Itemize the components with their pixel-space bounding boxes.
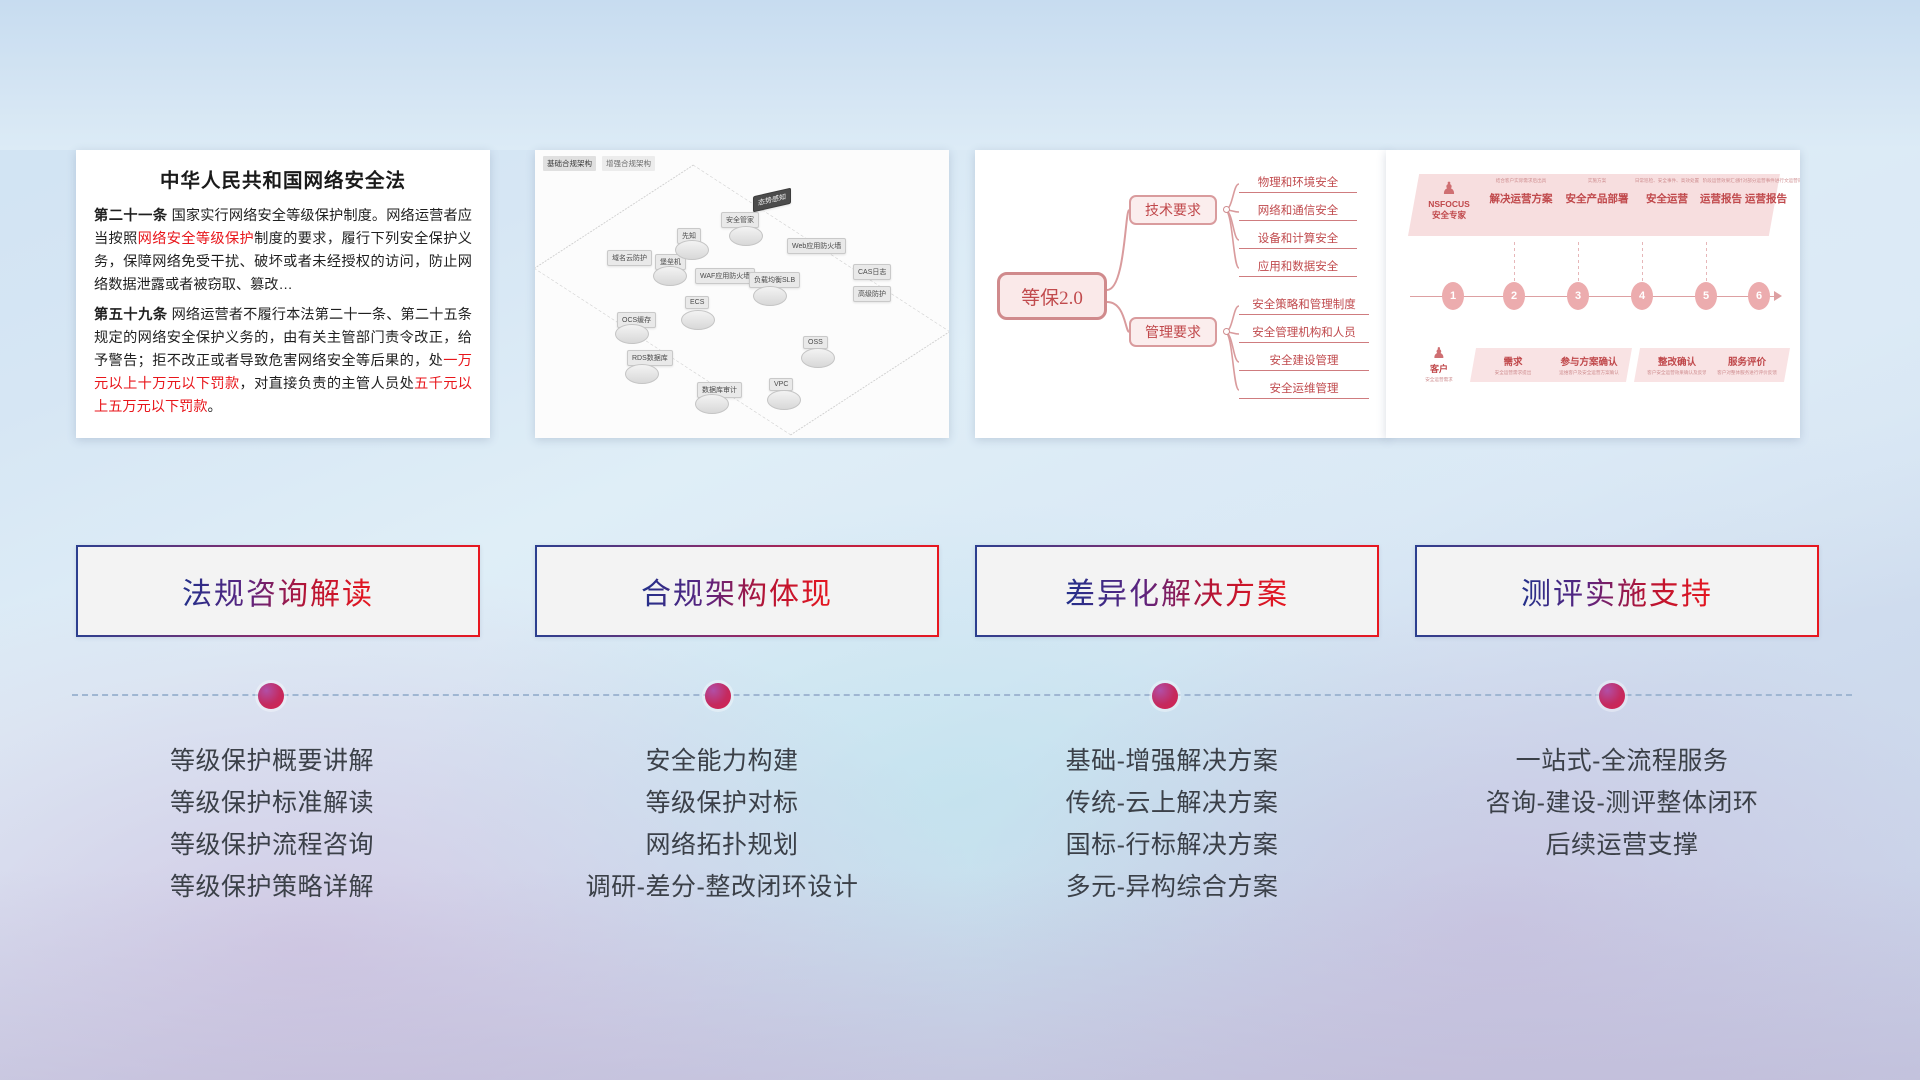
list-item: 一站式-全流程服务: [1412, 740, 1832, 782]
nsfocus-step-3: 日常巡检、安全事件、高效处置 安全运营: [1634, 178, 1700, 206]
nsfocus-lower-title-1: 需求: [1470, 354, 1556, 368]
tab-basic-architecture[interactable]: 基础合规架构: [543, 156, 596, 171]
mindmap-leaf-app-data: 应用和数据安全: [1239, 258, 1357, 277]
arch-puck-ocs: [615, 324, 649, 344]
heading-border-left: [1415, 545, 1417, 637]
mindmap-collapse-dot-technical[interactable]: [1223, 206, 1230, 213]
heading-border-bottom: [76, 635, 480, 637]
heading-box-differentiated-solution[interactable]: 差异化解决方案: [975, 545, 1379, 637]
arch-puck-steward: [729, 226, 763, 246]
heading-border-left: [535, 545, 537, 637]
nsfocus-step-2-sub: 实施方案: [1562, 178, 1632, 184]
law-card-body: 中华人民共和国网络安全法 第二十一条 国家实行网络安全等级保护制度。网络运营者应…: [76, 150, 490, 434]
nsfocus-step-2: 实施方案 安全产品部署: [1562, 178, 1632, 206]
nsfocus-timeline-axis: [1410, 296, 1776, 297]
mindmap-leaf-device-compute: 设备和计算安全: [1239, 230, 1357, 249]
heading-border-left: [76, 545, 78, 637]
law-article-21: 第二十一条 国家实行网络安全等级保护制度。网络运营者应当按照网络安全等级保护制度…: [94, 205, 472, 297]
list-item: 咨询-建设-测评整体闭环: [1412, 782, 1832, 824]
reference-card-row: 中华人民共和国网络安全法 第二十一条 国家实行网络安全等级保护制度。网络运营者应…: [0, 150, 1920, 442]
law-article-59-label: 第五十九条: [94, 307, 168, 323]
mindmap-collapse-dot-management[interactable]: [1223, 328, 1230, 335]
customer-icon: ♟: [1414, 346, 1464, 361]
nsfocus-step-2-title: 安全产品部署: [1562, 191, 1632, 206]
nsfocus-customer-sub: 安全运营需求: [1414, 377, 1464, 383]
list-item: 传统-云上解决方案: [962, 782, 1382, 824]
security-expert-icon: ♟: [1420, 180, 1478, 197]
nsfocus-reference-card[interactable]: ♟ NSFOCUS 安全专家 结合客户实际需求后出具 解决运营方案 实施方案 安…: [1386, 150, 1800, 438]
nsfocus-tick-3: [1642, 242, 1643, 284]
timeline-dashed-line: [72, 694, 1852, 698]
heading-box-compliance-architecture[interactable]: 合规架构体现: [535, 545, 939, 637]
nsfocus-number-1: 1: [1442, 282, 1464, 310]
list-item: 等级保护标准解读: [62, 782, 482, 824]
heading-border-right: [937, 545, 939, 637]
list-item: 等级保护概要讲解: [62, 740, 482, 782]
law-article-59-text-b: ，对直接负责的主管人员处: [240, 376, 415, 392]
heading-box-assessment-support[interactable]: 测评实施支持: [1415, 545, 1819, 637]
nsfocus-number-5: 5: [1695, 282, 1717, 310]
nsfocus-step-3-title: 安全运营: [1634, 191, 1700, 206]
heading-border-bottom: [975, 635, 1379, 637]
heading-border-right: [478, 545, 480, 637]
list-item: 网络拓扑规划: [512, 824, 932, 866]
nsfocus-step-1-sub: 结合客户实际需求后出具: [1482, 178, 1560, 184]
nsfocus-step-1-title: 解决运营方案: [1482, 191, 1560, 206]
list-item: 基础-增强解决方案: [962, 740, 1382, 782]
arch-node-cas-log: CAS日志: [853, 264, 891, 280]
nsfocus-step-1: 结合客户实际需求后出具 解决运营方案: [1482, 178, 1560, 206]
nsfocus-number-4: 4: [1631, 282, 1653, 310]
nsfocus-timeline-arrow-icon: [1774, 291, 1782, 301]
arch-node-situational-awareness: 态势感知: [753, 188, 791, 213]
mindmap-root-node[interactable]: 等保2.0: [997, 272, 1107, 320]
nsfocus-brand-block: ♟ NSFOCUS 安全专家: [1420, 180, 1478, 221]
timeline-dot-4[interactable]: [1599, 683, 1625, 709]
nsfocus-brand-line2: 安全专家: [1420, 209, 1478, 221]
law-article-59: 第五十九条 网络运营者不履行本法第二十一条、第二十五条规定的网络安全保护义务的，…: [94, 304, 472, 419]
nsfocus-step-5: 针对部分运营事件进行文运营效果 运营报告: [1738, 178, 1794, 206]
arch-node-advanced-protection: 高级防护: [853, 286, 891, 302]
timeline-dot-1[interactable]: [258, 683, 284, 709]
arch-node-ecs: ECS: [685, 296, 709, 309]
heading-border-right: [1817, 545, 1819, 637]
architecture-tab-bar[interactable]: 基础合规架构 增强合规架构: [543, 156, 655, 171]
mindmap-leaf-org-personnel: 安全管理机构和人员: [1239, 324, 1369, 343]
list-item: 等级保护流程咨询: [62, 824, 482, 866]
nsfocus-number-2: 2: [1503, 282, 1525, 310]
heading-border-bottom: [535, 635, 939, 637]
timeline-dot-2[interactable]: [705, 683, 731, 709]
nsfocus-number-3: 3: [1567, 282, 1589, 310]
top-background-wash: [0, 0, 1920, 150]
arch-puck-ecs: [681, 310, 715, 330]
mindmap-reference-card[interactable]: 等保2.0 技术要求 物理和环境安全 网络和通信安全 设备和计算安全 应用和数据…: [975, 150, 1389, 438]
mindmap-leaf-policy-system: 安全策略和管理制度: [1239, 296, 1369, 315]
nsfocus-customer-block: ♟ 客户 安全运营需求: [1414, 346, 1464, 383]
arch-puck-db-audit: [695, 394, 729, 414]
nsfocus-step-5-title: 运营报告: [1738, 191, 1794, 206]
heading-border-top: [535, 545, 939, 547]
nsfocus-step-3-sub: 日常巡检、安全事件、高效处置: [1634, 178, 1700, 184]
heading-border-top: [76, 545, 480, 547]
timeline-dot-3[interactable]: [1152, 683, 1178, 709]
list-item: 调研-差分-整改闭环设计: [512, 866, 932, 908]
architecture-reference-card[interactable]: 基础合规架构 增强合规架构 态势感知 先知 安全管家 域名云防护 堡垒机 WAF…: [535, 150, 949, 438]
nsfocus-step-5-sub: 针对部分运营事件进行文运营效果: [1738, 178, 1794, 184]
nsfocus-number-6: 6: [1748, 282, 1770, 310]
arch-puck-vpc: [767, 390, 801, 410]
arch-node-waf: WAF应用防火墙: [695, 268, 755, 284]
mindmap-leaf-construction-mgmt: 安全建设管理: [1239, 352, 1369, 371]
nsfocus-brand-line1: NSFOCUS: [1420, 199, 1478, 209]
heading-border-top: [975, 545, 1379, 547]
arch-node-web-firewall: Web应用防火墙: [787, 238, 846, 254]
arch-node-vpc: VPC: [769, 378, 793, 391]
heading-label-2: 合规架构体现: [641, 569, 833, 613]
arch-puck-rds: [625, 364, 659, 384]
mindmap-leaf-ops-mgmt: 安全运维管理: [1239, 380, 1369, 399]
heading-label-4: 测评实施支持: [1521, 569, 1713, 613]
list-item: 等级保护策略详解: [62, 866, 482, 908]
detail-column-4: 一站式-全流程服务 咨询-建设-测评整体闭环 后续运营支撑: [1412, 740, 1832, 866]
arch-puck-foresight: [675, 240, 709, 260]
dengbao-mindmap: 等保2.0 技术要求 物理和环境安全 网络和通信安全 设备和计算安全 应用和数据…: [975, 150, 1389, 438]
detail-column-3: 基础-增强解决方案 传统-云上解决方案 国标-行标解决方案 多元-异构综合方案: [962, 740, 1382, 908]
list-item: 国标-行标解决方案: [962, 824, 1382, 866]
nsfocus-tick-4: [1706, 242, 1707, 284]
heading-border-left: [975, 545, 977, 637]
nsfocus-tick-2: [1578, 242, 1579, 284]
law-card-title: 中华人民共和国网络安全法: [94, 164, 472, 193]
law-article-21-label: 第二十一条: [94, 208, 168, 224]
heading-box-regulation-consulting[interactable]: 法规咨询解读: [76, 545, 480, 637]
heading-border-top: [1415, 545, 1819, 547]
nsfocus-lower-title-4: 服务评价: [1704, 354, 1790, 368]
nsfocus-service-timeline: ♟ NSFOCUS 安全专家 结合客户实际需求后出具 解决运营方案 实施方案 安…: [1386, 150, 1800, 438]
nsfocus-lower-sub-4: 客户对整体服务进行评价反馈: [1692, 370, 1800, 376]
heading-label-3: 差异化解决方案: [1065, 569, 1289, 613]
mindmap-leaf-network-comm: 网络和通信安全: [1239, 202, 1357, 221]
law-reference-card[interactable]: 中华人民共和国网络安全法 第二十一条 国家实行网络安全等级保护制度。网络运营者应…: [76, 150, 490, 438]
heading-border-bottom: [1415, 635, 1819, 637]
law-article-59-text-c: 。: [208, 399, 222, 415]
detail-column-1: 等级保护概要讲解 等级保护标准解读 等级保护流程咨询 等级保护策略详解: [62, 740, 482, 908]
arch-puck-bastion: [653, 266, 687, 286]
list-item: 等级保护对标: [512, 782, 932, 824]
mindmap-branch-technical[interactable]: 技术要求: [1129, 195, 1217, 225]
nsfocus-tick-1: [1514, 242, 1515, 284]
arch-puck-slb: [753, 286, 787, 306]
heading-border-right: [1377, 545, 1379, 637]
mindmap-leaf-physical-env: 物理和环境安全: [1239, 174, 1357, 193]
heading-label-1: 法规咨询解读: [182, 569, 374, 613]
law-article-21-highlight: 网络安全等级保护: [138, 231, 254, 247]
arch-node-domain-cloud-protect: 域名云防护: [607, 250, 652, 266]
arch-puck-oss: [801, 348, 835, 368]
list-item: 后续运营支撑: [1412, 824, 1832, 866]
architecture-diagram: 基础合规架构 增强合规架构 态势感知 先知 安全管家 域名云防护 堡垒机 WAF…: [535, 150, 949, 438]
nsfocus-lower-title-2: 参与方案确认: [1546, 354, 1632, 368]
tab-enhanced-architecture[interactable]: 增强合规架构: [602, 156, 655, 171]
arch-node-rds: RDS数据库: [627, 350, 673, 366]
mindmap-branch-management[interactable]: 管理要求: [1129, 317, 1217, 347]
list-item: 多元-异构综合方案: [962, 866, 1382, 908]
heading-row: 法规咨询解读 合规架构体现 差异化解决方案 测评实施支持: [0, 545, 1920, 655]
nsfocus-customer-title: 客户: [1414, 362, 1464, 375]
detail-column-row: 等级保护概要讲解 等级保护标准解读 等级保护流程咨询 等级保护策略详解 安全能力…: [0, 740, 1920, 960]
detail-column-2: 安全能力构建 等级保护对标 网络拓扑规划 调研-差分-整改闭环设计: [512, 740, 932, 908]
list-item: 安全能力构建: [512, 740, 932, 782]
